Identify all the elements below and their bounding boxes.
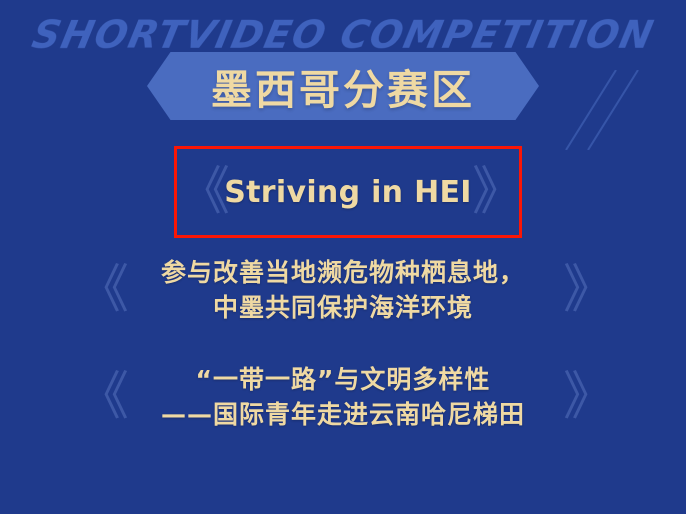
paragraph-line: 中墨共同保护海洋环境 xyxy=(161,290,525,326)
watermark-text: SHORTVIDEO COMPETITION xyxy=(29,16,657,54)
paragraph-belt-and-road-body: “一带一路”与文明多样性 ——国际青年走进云南哈尼梯田 xyxy=(161,362,525,433)
chevron-right-icon: 》 xyxy=(563,371,609,423)
chevron-left-icon: 《 xyxy=(77,264,123,316)
chevron-right-icon: 》 xyxy=(563,264,609,316)
chevron-left-icon: 《 xyxy=(77,371,123,423)
paragraph-line: 参与改善当地濒危物种栖息地， xyxy=(161,255,525,291)
region-banner: 墨西哥分赛区 xyxy=(147,52,539,120)
paragraph-belt-and-road: 《 “一带一路”与文明多样性 ——国际青年走进云南哈尼梯田 》 xyxy=(73,352,613,442)
paragraph-habitat-body: 参与改善当地濒危物种栖息地， 中墨共同保护海洋环境 xyxy=(161,255,525,326)
paragraph-line: “一带一路”与文明多样性 xyxy=(161,362,525,398)
diagonal-accent-lines xyxy=(538,70,658,150)
banner-title: 墨西哥分赛区 xyxy=(147,52,539,120)
slide-canvas: SHORTVIDEO COMPETITION 墨西哥分赛区 《 Striving… xyxy=(0,0,686,514)
paragraph-line: ——国际青年走进云南哈尼梯田 xyxy=(161,397,525,433)
paragraph-habitat: 《 参与改善当地濒危物种栖息地， 中墨共同保护海洋环境 》 xyxy=(73,248,613,332)
red-highlight-box xyxy=(174,146,522,238)
